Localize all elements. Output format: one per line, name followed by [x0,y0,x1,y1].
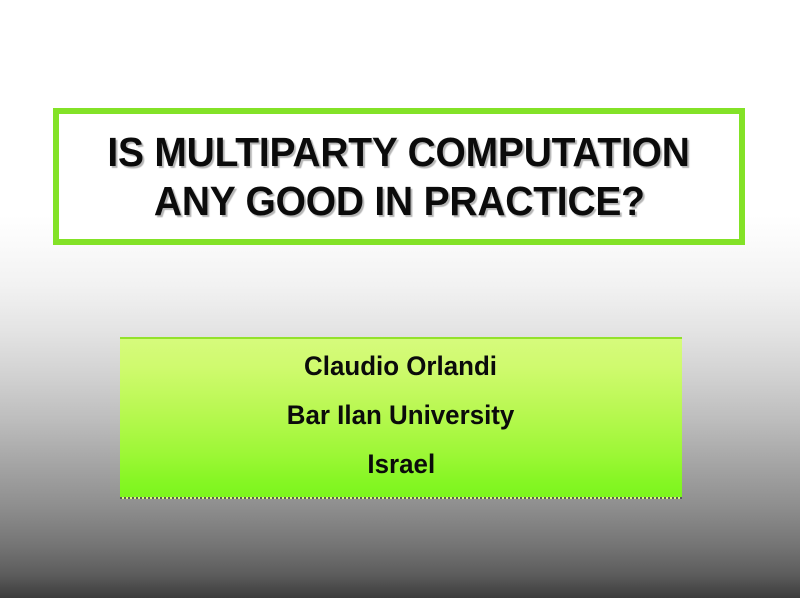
author-affiliation: Bar Ilan University [287,402,515,429]
presentation-slide: IS MULTIPARTY COMPUTATION ANY GOOD IN PR… [0,0,800,598]
title-line-2: ANY GOOD IN PRACTICE? [154,177,645,225]
title-box: IS MULTIPARTY COMPUTATION ANY GOOD IN PR… [53,108,745,245]
author-name: Claudio Orlandi [305,353,498,380]
author-country: Israel [367,451,435,478]
author-box: Claudio Orlandi Bar Ilan University Isra… [120,337,682,499]
title-line-1: IS MULTIPARTY COMPUTATION [108,128,690,176]
